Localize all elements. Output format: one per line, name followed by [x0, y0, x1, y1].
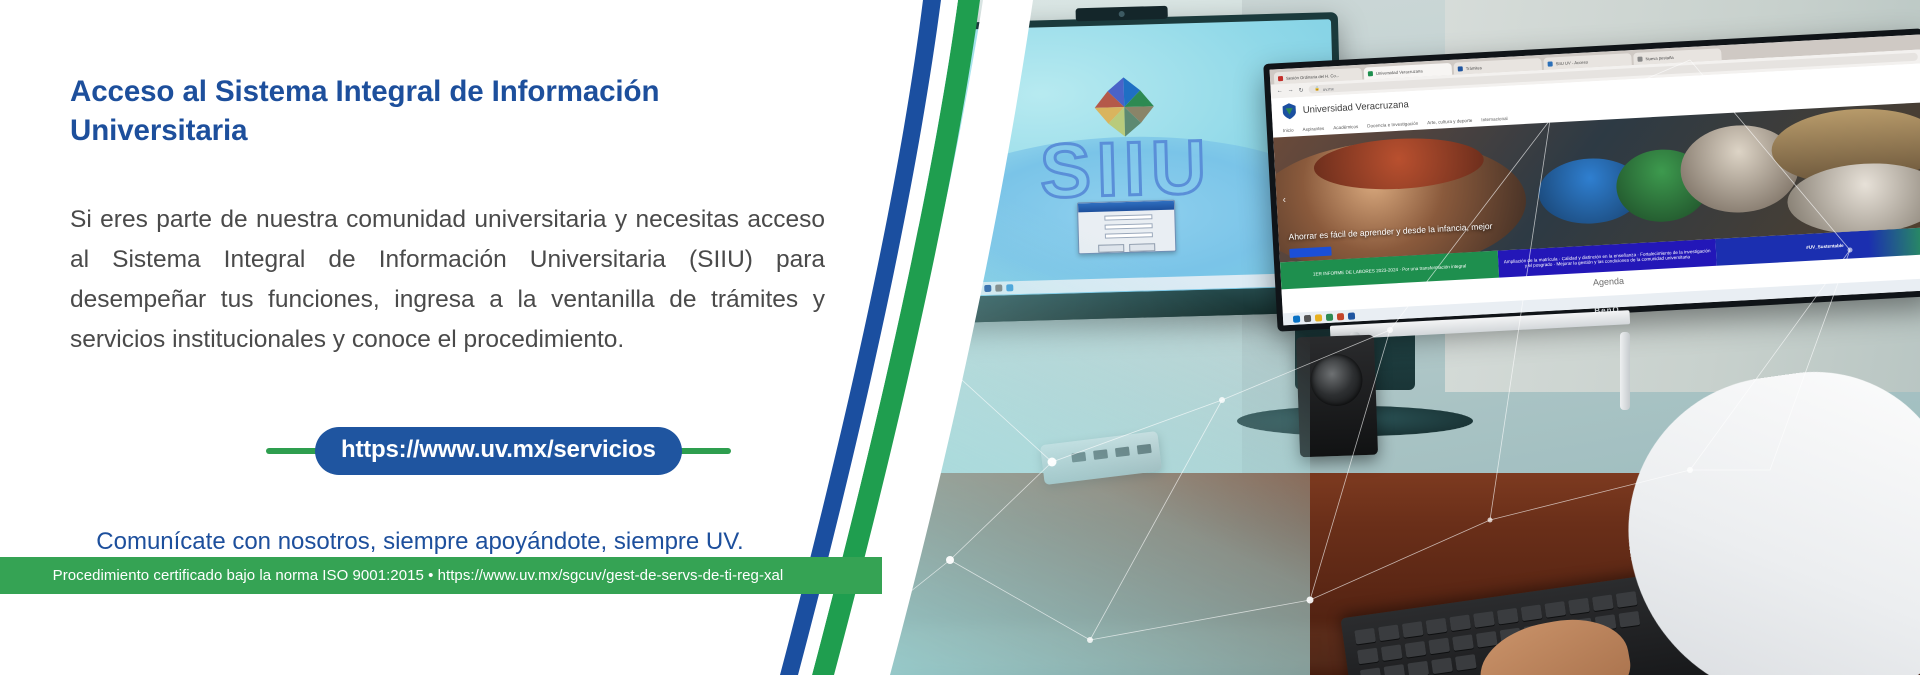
page-title: Acceso al Sistema Integral de Informació… — [70, 72, 770, 150]
desktop-speaker — [1296, 335, 1378, 458]
tab-label: SIIU UV - Acceso — [1555, 59, 1588, 66]
siiu-login-dialog — [1077, 200, 1176, 255]
nav-item[interactable]: Aspirantes — [1302, 126, 1324, 132]
benq-monitor: Sesión Ordinaria del H. Co... Universida… — [1263, 28, 1920, 331]
body-paragraph: Si eres parte de nuestra comunidad unive… — [70, 200, 825, 360]
tab-favicon — [1368, 71, 1373, 76]
services-url-button[interactable]: https://www.uv.mx/servicios — [315, 427, 682, 475]
omnibox-url: uv.mx — [1323, 86, 1334, 92]
nav-item[interactable]: Docencia e Investigación — [1367, 121, 1418, 129]
tab-favicon — [1278, 75, 1283, 80]
browser-reload-icon[interactable]: ↻ — [1299, 86, 1304, 93]
browser-forward-icon[interactable]: → — [1288, 87, 1294, 93]
certification-footer-text: Procedimiento certificado bajo la norma … — [0, 557, 836, 594]
tab-label: Nueva pestaña — [1645, 54, 1673, 61]
speaker-cone — [1310, 353, 1364, 407]
nav-item[interactable]: Académicos — [1333, 124, 1358, 130]
browser-back-icon[interactable]: ← — [1277, 88, 1283, 94]
tab-favicon — [1547, 61, 1552, 66]
site-title: Universidad Veracruzana — [1302, 99, 1409, 116]
chevron-left-icon[interactable]: ‹ — [1282, 194, 1286, 205]
url-callout: https://www.uv.mx/servicios — [266, 428, 796, 474]
tab-label: Trámites — [1466, 65, 1482, 71]
tab-favicon — [1637, 56, 1642, 61]
tab-label: Universidad Veracruzana — [1376, 68, 1423, 76]
certification-footer-bar: Procedimiento certificado bajo la norma … — [0, 557, 882, 594]
padlock-icon: 🔒 — [1315, 86, 1321, 92]
uv-shield-icon — [1281, 102, 1297, 120]
rule-right-decoration — [678, 448, 731, 454]
tagline: Comunícate con nosotros, siempre apoyánd… — [0, 528, 840, 556]
nav-item[interactable]: Inicio — [1283, 128, 1294, 134]
browser-window: Sesión Ordinaria del H. Co... Universida… — [1270, 34, 1920, 325]
nav-item[interactable]: Internacional — [1481, 116, 1508, 122]
rule-left-decoration — [266, 448, 319, 454]
nav-item[interactable]: Arte, cultura y deporte — [1427, 118, 1472, 125]
tab-favicon — [1458, 66, 1463, 71]
webcam-icon — [1076, 6, 1168, 22]
tab-label: Sesión Ordinaria del H. Co... — [1286, 72, 1340, 80]
uv-siiu-banner: SIIU — [0, 0, 1920, 675]
